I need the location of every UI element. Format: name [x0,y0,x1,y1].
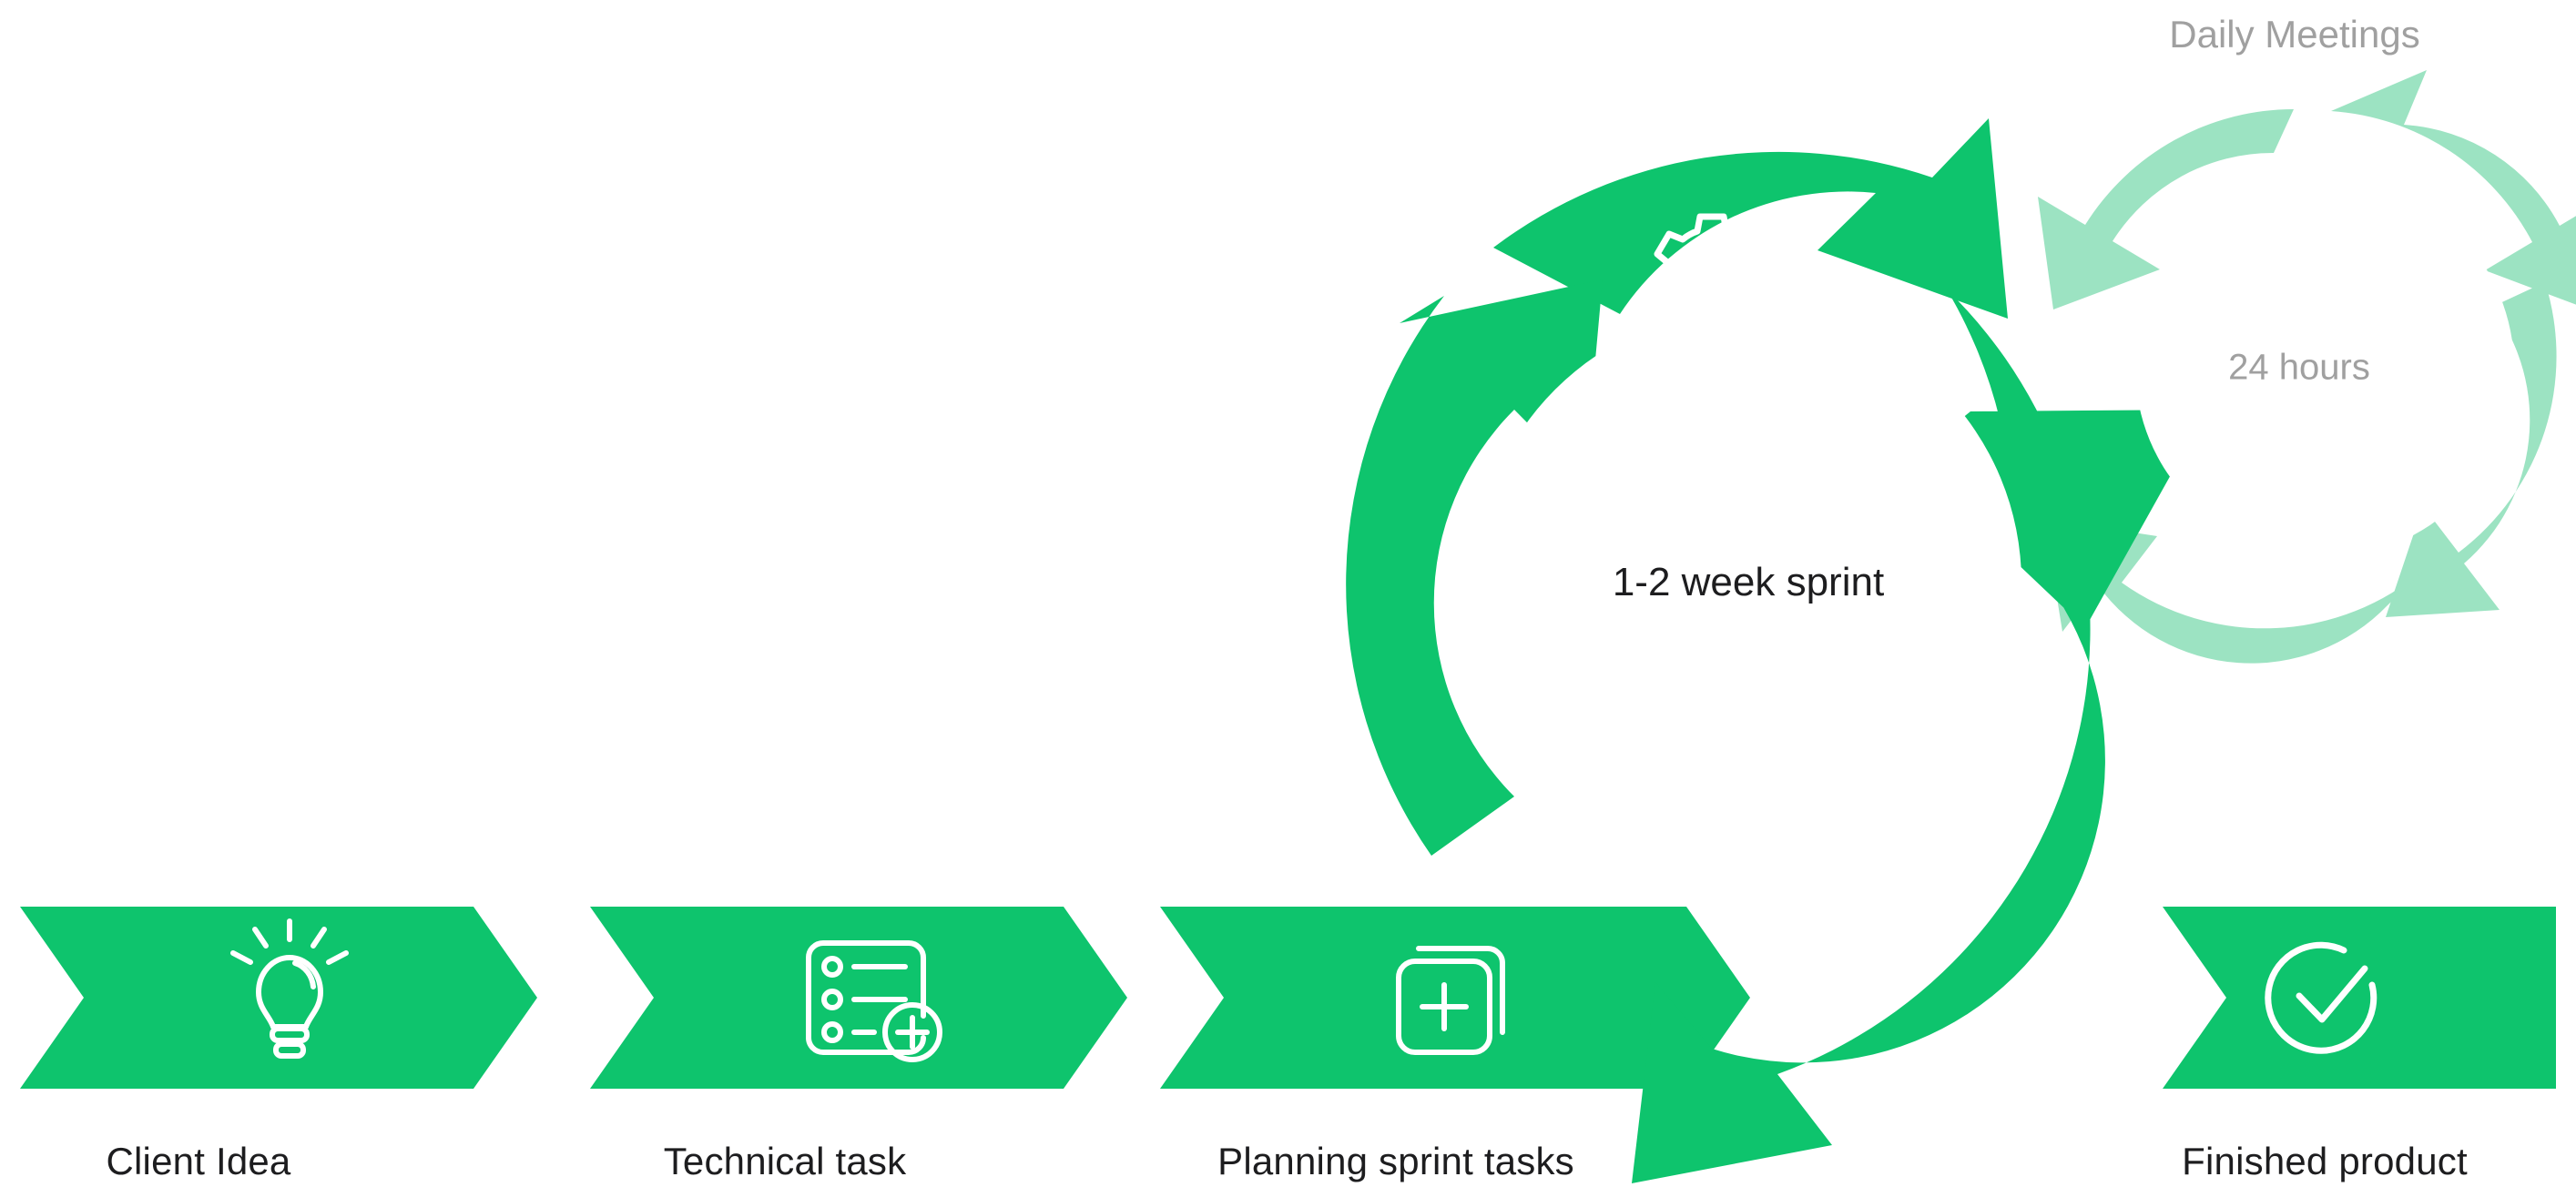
chevron-shape [20,907,537,1089]
sprint-center-label: 1-2 week sprint [1613,560,1884,605]
chevron-step-1[interactable] [20,907,537,1089]
chevron-step-4[interactable] [2163,907,2556,1089]
step-label-technical-task: Technical task [664,1140,907,1183]
daily-center-label: 24 hours [2228,348,2370,389]
step-label-client-idea: Client Idea [107,1140,291,1183]
daily-meetings-heading: Daily Meetings [2169,13,2419,56]
process-chevron-row [20,907,1750,1089]
step-label-finished-product: Finished product [2182,1140,2468,1183]
diagram-canvas: 1-2 week sprint Daily Meetings 24 hours … [0,0,2576,1187]
chevron-step-2[interactable] [590,907,1127,1089]
scrum-process-svg [0,0,2576,1187]
chevron-shape [2163,907,2556,1089]
step-label-planning-sprint-tasks: Planning sprint tasks [1217,1140,1574,1183]
